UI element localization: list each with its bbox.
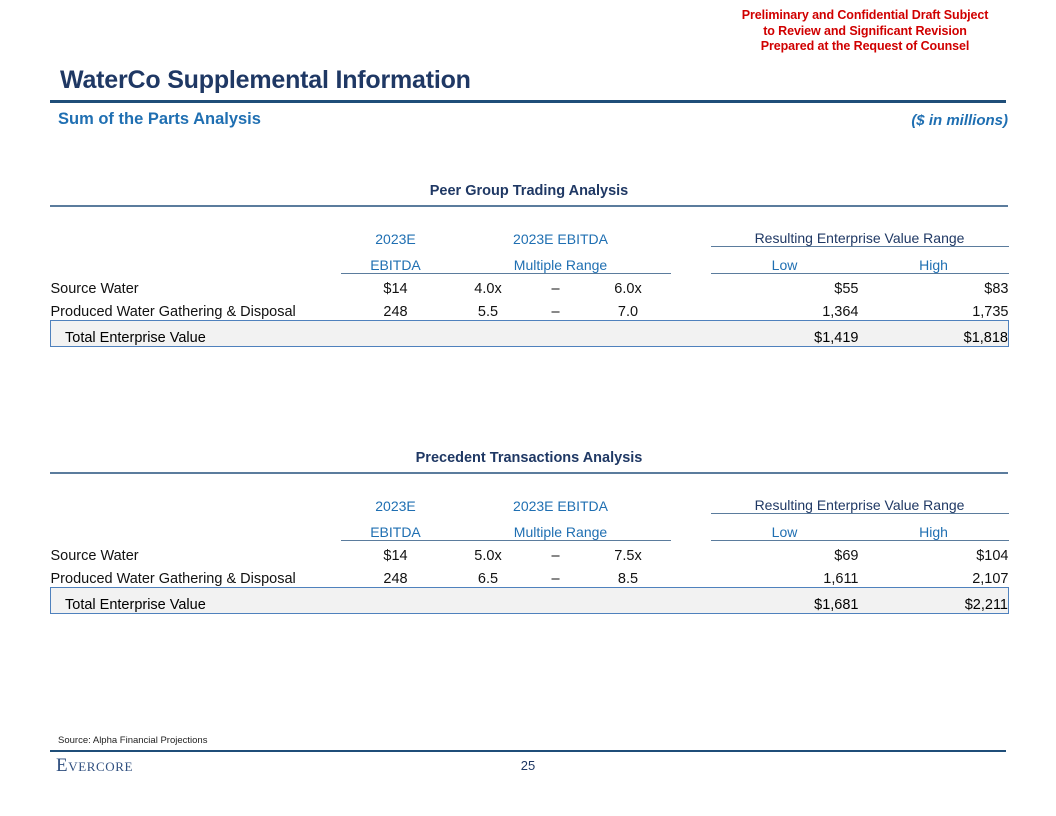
- header-blank: [51, 247, 341, 274]
- table-row: Produced Water Gathering & Disposal 248 …: [51, 297, 1009, 321]
- section-divider: [50, 205, 1008, 207]
- spacer-cell: [711, 476, 859, 488]
- spacer-cell: [586, 476, 671, 488]
- spacer-cell: [341, 476, 451, 488]
- row-ev-high: $104: [859, 541, 1009, 565]
- precedent-transactions-block: Precedent Transactions Analysis 2023E 20…: [50, 450, 1008, 614]
- row-range-dash: –: [526, 274, 586, 298]
- total-label: Total Enterprise Value: [51, 321, 341, 347]
- precedent-transactions-table: 2023E 2023E EBITDA Resulting Enterprise …: [50, 476, 1009, 614]
- header-blank: [671, 488, 711, 514]
- total-blank: [526, 321, 586, 347]
- row-label: Produced Water Gathering & Disposal: [51, 297, 341, 321]
- header-spacer-row: [51, 476, 1009, 488]
- row-ev-low: 1,611: [711, 564, 859, 588]
- total-blank: [451, 588, 526, 614]
- header-spacer-row: [51, 209, 1009, 221]
- spacer-cell: [671, 476, 711, 488]
- header-high: High: [859, 514, 1009, 541]
- header-row-bottom: EBITDA Multiple Range Low High: [51, 247, 1009, 274]
- source-note: Source: Alpha Financial Projections: [58, 735, 207, 746]
- header-high: High: [859, 247, 1009, 274]
- page-number: 25: [0, 758, 1056, 773]
- peer-group-trading-block: Peer Group Trading Analysis 2023E 2023E …: [50, 183, 1008, 347]
- total-blank: [671, 321, 711, 347]
- row-multiple-low: 5.5: [451, 297, 526, 321]
- header-multiple-top: 2023E EBITDA: [451, 221, 671, 247]
- row-ev-low: $55: [711, 274, 859, 298]
- confidential-line-1: Preliminary and Confidential Draft Subje…: [720, 8, 1010, 24]
- header-blank: [671, 247, 711, 274]
- total-blank: [526, 588, 586, 614]
- header-blank: [51, 488, 341, 514]
- row-ev-low: $69: [711, 541, 859, 565]
- confidential-notice: Preliminary and Confidential Draft Subje…: [720, 8, 1010, 55]
- row-ev-low: 1,364: [711, 297, 859, 321]
- header-multiple-top: 2023E EBITDA: [451, 488, 671, 514]
- header-ebitda-bottom: EBITDA: [341, 514, 451, 541]
- total-label: Total Enterprise Value: [51, 588, 341, 614]
- header-row-bottom: EBITDA Multiple Range Low High: [51, 514, 1009, 541]
- spacer-cell: [51, 476, 341, 488]
- spacer-cell: [51, 209, 341, 221]
- header-blank: [671, 514, 711, 541]
- row-range-dash: –: [526, 564, 586, 588]
- total-blank: [586, 321, 671, 347]
- header-blank: [671, 221, 711, 247]
- total-blank: [451, 321, 526, 347]
- total-row: Total Enterprise Value $1,419 $1,818: [51, 321, 1009, 347]
- spacer-cell: [859, 476, 1009, 488]
- total-ev-high: $1,818: [859, 321, 1009, 347]
- header-blank: [51, 221, 341, 247]
- row-ebitda: $14: [341, 541, 451, 565]
- page-title: WaterCo Supplemental Information: [60, 66, 471, 95]
- confidential-line-2: to Review and Significant Revision: [720, 24, 1010, 40]
- spacer-cell: [451, 209, 526, 221]
- row-ebitda: 248: [341, 297, 451, 321]
- spacer-cell: [526, 476, 586, 488]
- row-ev-high: 1,735: [859, 297, 1009, 321]
- total-blank: [341, 588, 451, 614]
- row-multiple-high: 8.5: [586, 564, 671, 588]
- row-label: Source Water: [51, 274, 341, 298]
- row-gap: [671, 274, 711, 298]
- header-ebitda-top: 2023E: [341, 488, 451, 514]
- section-title: Peer Group Trading Analysis: [50, 183, 1008, 205]
- table-row: Produced Water Gathering & Disposal 248 …: [51, 564, 1009, 588]
- row-multiple-low: 4.0x: [451, 274, 526, 298]
- total-blank: [586, 588, 671, 614]
- title-divider: [50, 100, 1006, 103]
- spacer-cell: [451, 476, 526, 488]
- row-multiple-high: 6.0x: [586, 274, 671, 298]
- spacer-cell: [859, 209, 1009, 221]
- row-ebitda: $14: [341, 274, 451, 298]
- row-gap: [671, 541, 711, 565]
- spacer-cell: [671, 209, 711, 221]
- confidential-line-3: Prepared at the Request of Counsel: [720, 39, 1010, 55]
- row-gap: [671, 297, 711, 321]
- header-ebitda-bottom: EBITDA: [341, 247, 451, 274]
- row-multiple-low: 5.0x: [451, 541, 526, 565]
- header-row-top: 2023E 2023E EBITDA Resulting Enterprise …: [51, 488, 1009, 514]
- header-row-top: 2023E 2023E EBITDA Resulting Enterprise …: [51, 221, 1009, 247]
- row-multiple-low: 6.5: [451, 564, 526, 588]
- page-subtitle: Sum of the Parts Analysis: [58, 110, 261, 129]
- section-divider: [50, 472, 1008, 474]
- table-row: Source Water $14 4.0x – 6.0x $55 $83: [51, 274, 1009, 298]
- peer-group-trading-table: 2023E 2023E EBITDA Resulting Enterprise …: [50, 209, 1009, 347]
- spacer-cell: [526, 209, 586, 221]
- row-range-dash: –: [526, 297, 586, 321]
- header-low: Low: [711, 247, 859, 274]
- header-multiple-bottom: Multiple Range: [451, 247, 671, 274]
- header-blank: [51, 514, 341, 541]
- units-note: ($ in millions): [911, 112, 1008, 129]
- header-ev-range: Resulting Enterprise Value Range: [711, 488, 1009, 514]
- row-label: Source Water: [51, 541, 341, 565]
- row-multiple-high: 7.5x: [586, 541, 671, 565]
- total-blank: [671, 588, 711, 614]
- row-ev-high: $83: [859, 274, 1009, 298]
- total-ev-high: $2,211: [859, 588, 1009, 614]
- footer-divider: [50, 750, 1006, 752]
- header-multiple-bottom: Multiple Range: [451, 514, 671, 541]
- section-title: Precedent Transactions Analysis: [50, 450, 1008, 472]
- row-gap: [671, 564, 711, 588]
- header-ebitda-top: 2023E: [341, 221, 451, 247]
- total-ev-low: $1,681: [711, 588, 859, 614]
- row-label: Produced Water Gathering & Disposal: [51, 564, 341, 588]
- spacer-cell: [341, 209, 451, 221]
- spacer-cell: [586, 209, 671, 221]
- table-row: Source Water $14 5.0x – 7.5x $69 $104: [51, 541, 1009, 565]
- header-low: Low: [711, 514, 859, 541]
- row-multiple-high: 7.0: [586, 297, 671, 321]
- total-blank: [341, 321, 451, 347]
- total-row: Total Enterprise Value $1,681 $2,211: [51, 588, 1009, 614]
- row-range-dash: –: [526, 541, 586, 565]
- row-ebitda: 248: [341, 564, 451, 588]
- header-ev-range: Resulting Enterprise Value Range: [711, 221, 1009, 247]
- total-ev-low: $1,419: [711, 321, 859, 347]
- spacer-cell: [711, 209, 859, 221]
- row-ev-high: 2,107: [859, 564, 1009, 588]
